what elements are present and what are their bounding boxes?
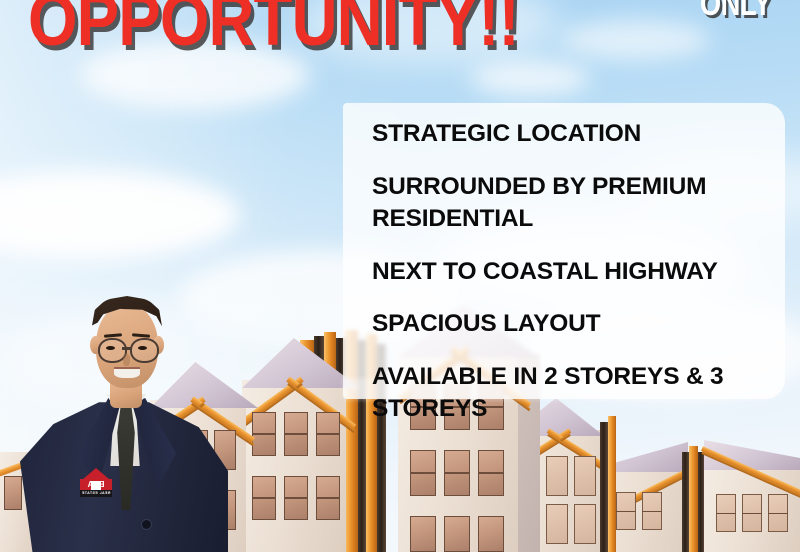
suit-button xyxy=(142,520,151,529)
era-badge-subtext: REAL ESTATE xyxy=(80,490,112,497)
feature-item: SPACIOUS LAYOUT xyxy=(372,308,772,341)
agent-glasses-bridge xyxy=(122,347,131,350)
feature-item: AVAILABLE IN 2 STOREYS & 3 STOREYS xyxy=(372,361,772,426)
feature-item: STRATEGIC LOCATION xyxy=(372,118,772,151)
agent-eye xyxy=(106,346,115,350)
feature-item: NEXT TO COASTAL HIGHWAY xyxy=(372,256,772,289)
agent-glasses-right-lens xyxy=(130,338,159,363)
feature-list: STRATEGIC LOCATION SURROUNDED BY PREMIUM… xyxy=(372,118,772,426)
label-only: ONLY xyxy=(700,0,771,21)
feature-item: SURROUNDED BY PREMIUM RESIDENTIAL xyxy=(372,171,772,236)
agent-mouth xyxy=(114,367,140,378)
agent-photo: ERA REAL ESTATE xyxy=(24,268,224,552)
era-badge-text: ERA xyxy=(80,480,112,490)
promo-banner: ERA REAL ESTATE STRATEGIC LOCATION SURRO… xyxy=(0,0,800,552)
agent-eye xyxy=(138,346,147,350)
agent-nose xyxy=(123,354,130,366)
headline-opportunity: OPPORTUNITY!! xyxy=(28,0,519,57)
era-badge: ERA REAL ESTATE xyxy=(76,468,116,500)
